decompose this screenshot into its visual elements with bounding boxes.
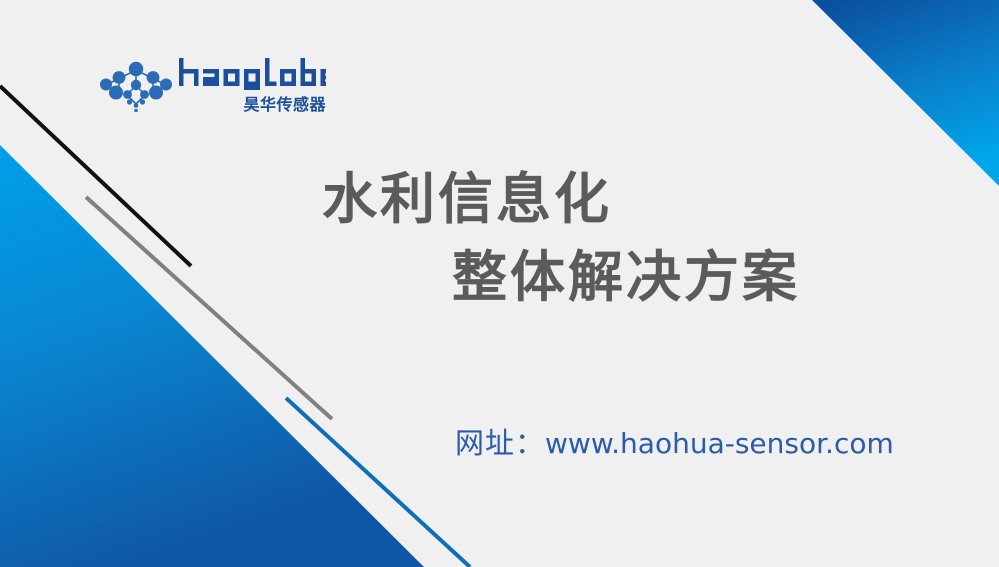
- company-logo-subtitle: 昊华传感器: [214, 94, 326, 116]
- website-line: 网址：www.haohua-sensor.com: [455, 420, 975, 466]
- page-title: 水利信息化 整体解决方案: [0, 160, 999, 316]
- title-line-1: 水利信息化: [0, 160, 999, 238]
- company-logo: 昊华传感器: [96, 56, 326, 122]
- title-slide: 昊华传感器 水利信息化 整体解决方案 网址：www.haohua-sensor.…: [0, 0, 999, 567]
- website-url[interactable]: www.haohua-sensor.com: [545, 427, 894, 460]
- website-label: 网址：: [455, 426, 545, 460]
- haoglobe-network-dots-logo-mark-icon: [96, 58, 176, 114]
- haoglobe-wordmark: [178, 54, 326, 94]
- title-line-2: 整体解决方案: [0, 238, 999, 316]
